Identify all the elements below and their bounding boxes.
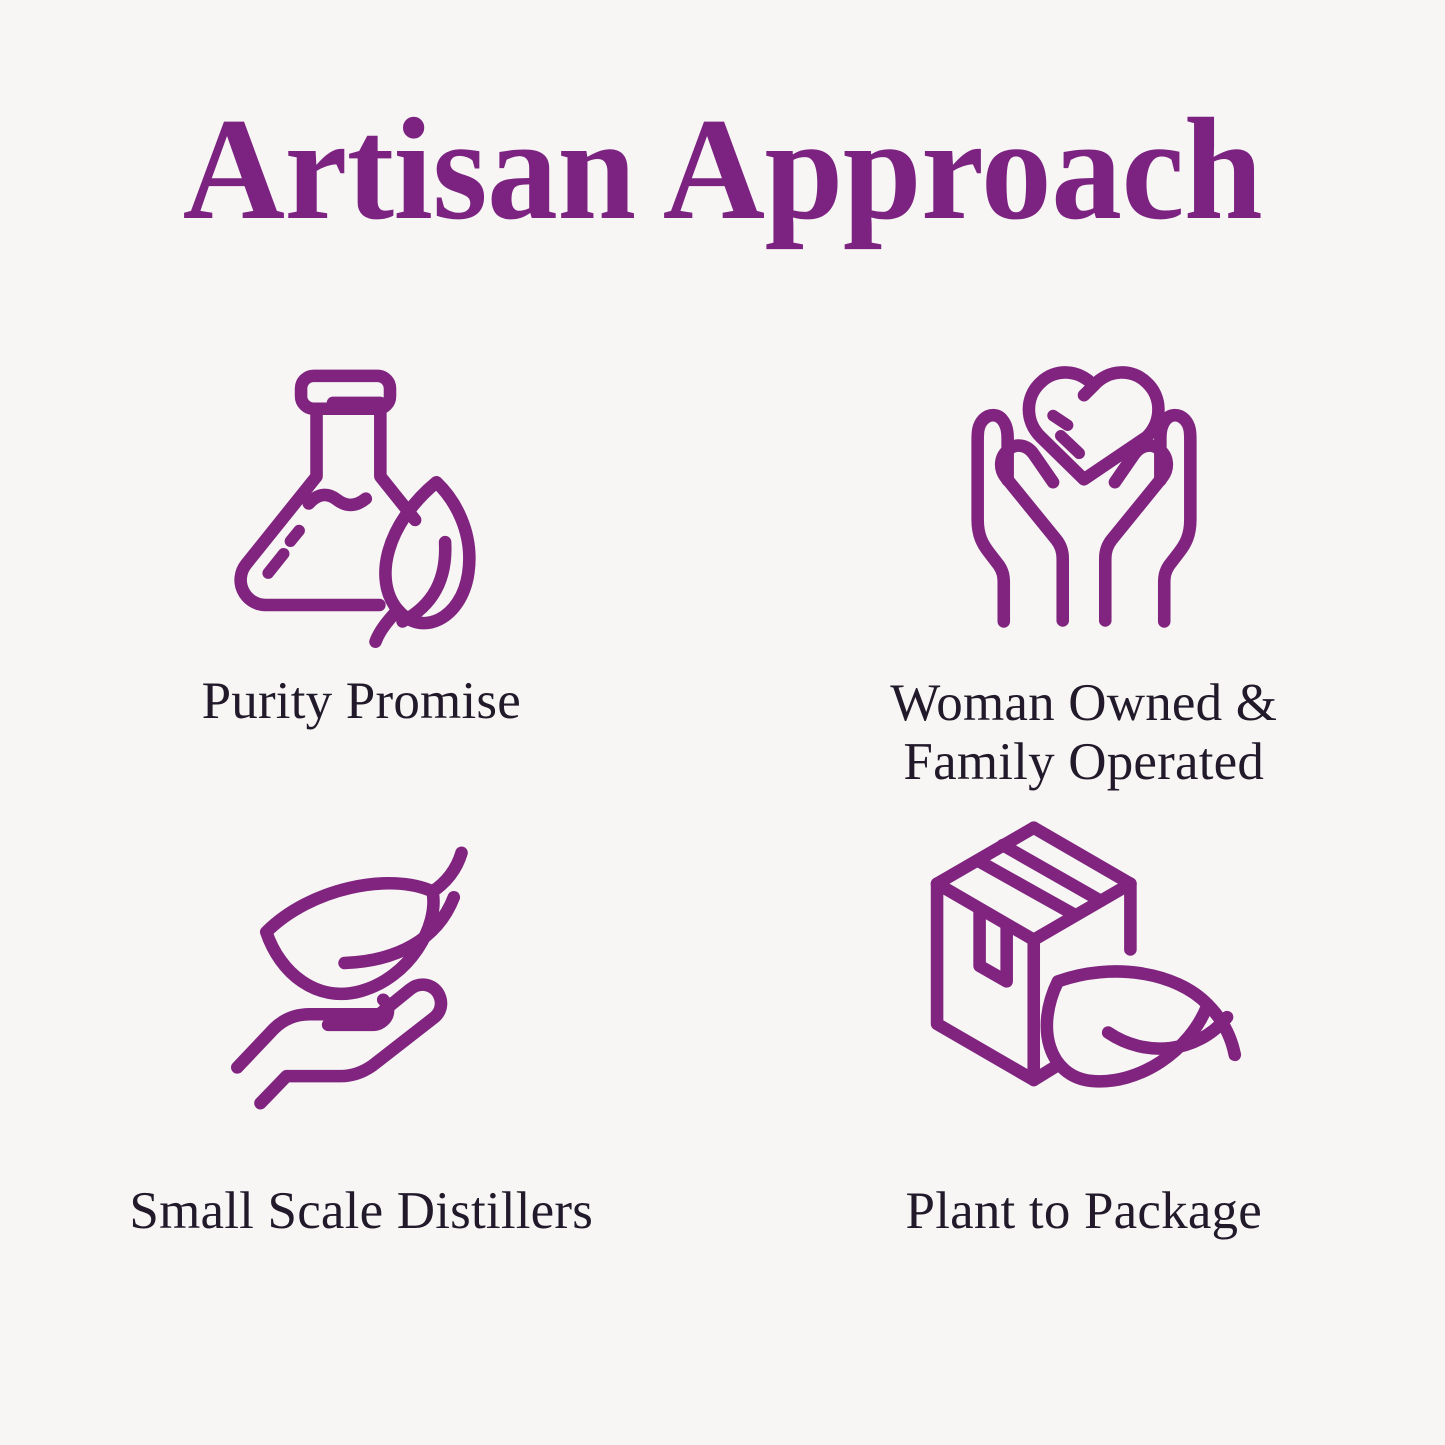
hand-leaf-icon xyxy=(211,818,511,1108)
feature-label-plant-to-package: Plant to Package xyxy=(723,1182,1445,1241)
flask-leaf-icon xyxy=(211,344,511,634)
feature-item-woman-owned: Woman Owned & Family Operated xyxy=(723,330,1445,830)
feature-label-small-scale-distillers: Small Scale Distillers xyxy=(0,1182,723,1241)
box-leaf-icon xyxy=(914,818,1254,1108)
artisan-approach-panel: Artisan Approach xyxy=(0,0,1445,1445)
feature-grid: Purity Promise xyxy=(0,330,1445,1390)
feature-item-small-scale-distillers: Small Scale Distillers xyxy=(0,830,723,1390)
feature-item-purity-promise: Purity Promise xyxy=(0,330,723,830)
page-title: Artisan Approach xyxy=(183,96,1263,242)
hands-heart-icon xyxy=(934,344,1234,634)
feature-item-plant-to-package: Plant to Package xyxy=(723,830,1445,1390)
feature-label-purity-promise: Purity Promise xyxy=(202,672,521,731)
page-title-container: Artisan Approach xyxy=(0,96,1445,242)
feature-label-woman-owned: Woman Owned & Family Operated xyxy=(890,674,1277,793)
